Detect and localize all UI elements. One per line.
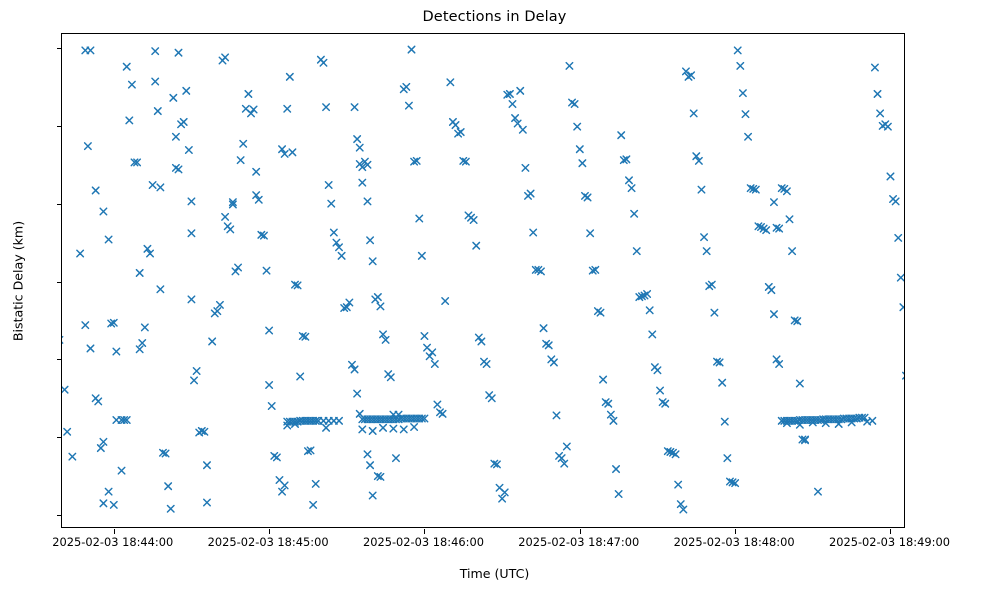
scatter-marker bbox=[274, 454, 281, 461]
scatter-marker bbox=[419, 253, 426, 260]
scatter-marker bbox=[237, 157, 244, 164]
scatter-marker bbox=[771, 199, 778, 206]
scatter-marker bbox=[711, 309, 718, 316]
scatter-marker bbox=[421, 333, 428, 340]
scatter-marker bbox=[157, 184, 164, 191]
scatter-marker bbox=[393, 455, 400, 462]
scatter-marker bbox=[136, 270, 143, 277]
y-tick-mark bbox=[57, 437, 62, 438]
scatter-marker bbox=[98, 445, 105, 452]
scatter-marker bbox=[786, 216, 793, 223]
scatter-series bbox=[62, 34, 904, 527]
scatter-marker bbox=[180, 119, 187, 126]
scatter-marker bbox=[165, 483, 172, 490]
x-tick-mark bbox=[580, 529, 581, 534]
scatter-marker bbox=[690, 110, 697, 117]
scatter-marker bbox=[173, 133, 180, 140]
scatter-marker bbox=[613, 466, 620, 473]
scatter-marker bbox=[406, 102, 413, 109]
scatter-marker bbox=[517, 88, 524, 95]
scatter-marker bbox=[139, 340, 146, 347]
scatter-marker bbox=[768, 287, 775, 293]
scatter-marker bbox=[675, 481, 682, 488]
scatter-marker bbox=[62, 337, 63, 344]
scatter-marker bbox=[186, 147, 193, 154]
scatter-marker bbox=[123, 63, 130, 69]
scatter-marker bbox=[157, 286, 164, 293]
scatter-marker bbox=[152, 48, 159, 55]
scatter-marker bbox=[452, 122, 459, 128]
scatter-marker bbox=[737, 63, 744, 70]
scatter-marker bbox=[289, 149, 296, 156]
scatter-marker bbox=[734, 47, 741, 54]
x-tick-mark bbox=[890, 529, 891, 534]
y-axis-label: Bistatic Delay (km) bbox=[11, 220, 26, 340]
x-tick-label: 2025-02-03 18:48:00 bbox=[674, 535, 795, 549]
y-tick-mark bbox=[57, 126, 62, 127]
x-tick-label: 2025-02-03 18:46:00 bbox=[363, 535, 484, 549]
scatter-marker bbox=[100, 208, 107, 215]
scatter-marker bbox=[193, 368, 200, 375]
scatter-marker bbox=[310, 502, 317, 509]
x-axis-label: Time (UTC) bbox=[0, 566, 989, 581]
scatter-marker bbox=[900, 304, 904, 311]
scatter-marker bbox=[628, 185, 635, 192]
scatter-marker bbox=[356, 144, 363, 151]
scatter-marker bbox=[701, 234, 708, 241]
scatter-marker bbox=[136, 346, 143, 353]
x-tick-mark bbox=[269, 529, 270, 534]
scatter-marker bbox=[408, 46, 415, 53]
scatter-marker bbox=[564, 443, 571, 450]
scatter-marker bbox=[105, 236, 112, 243]
scatter-marker bbox=[527, 190, 534, 197]
scatter-marker bbox=[364, 198, 371, 205]
scatter-marker bbox=[566, 63, 573, 70]
scatter-marker bbox=[320, 60, 327, 66]
x-tick-mark bbox=[424, 529, 425, 534]
scatter-marker bbox=[266, 382, 273, 389]
scatter-marker bbox=[434, 401, 441, 408]
x-tick-label: 2025-02-03 18:49:00 bbox=[829, 535, 950, 549]
scatter-marker bbox=[442, 298, 449, 305]
scatter-marker bbox=[338, 253, 345, 260]
scatter-marker bbox=[380, 425, 387, 432]
scatter-marker bbox=[323, 425, 330, 432]
scatter-marker bbox=[898, 274, 904, 281]
scatter-marker bbox=[369, 428, 376, 435]
scatter-marker bbox=[227, 226, 234, 233]
scatter-marker bbox=[312, 481, 319, 488]
scatter-marker bbox=[85, 143, 92, 150]
scatter-marker bbox=[367, 237, 374, 244]
scatter-marker bbox=[188, 230, 195, 237]
scatter-marker bbox=[874, 91, 881, 98]
page-title: Detections in Delay bbox=[0, 9, 989, 25]
scatter-marker bbox=[553, 412, 560, 419]
scatter-marker bbox=[331, 229, 338, 236]
scatter-marker bbox=[439, 411, 446, 418]
scatter-marker bbox=[903, 372, 904, 379]
scatter-marker bbox=[359, 426, 366, 433]
scatter-marker bbox=[279, 488, 286, 495]
x-tick-label: 2025-02-03 18:44:00 bbox=[52, 535, 173, 549]
scatter-marker bbox=[869, 418, 876, 425]
scatter-marker bbox=[571, 101, 578, 108]
scatter-marker bbox=[579, 160, 586, 167]
scatter-marker bbox=[253, 169, 260, 176]
scatter-marker bbox=[742, 111, 749, 118]
scatter-marker bbox=[520, 126, 527, 133]
scatter-marker bbox=[175, 49, 182, 56]
scatter-marker bbox=[217, 302, 224, 309]
scatter-marker bbox=[92, 187, 99, 194]
scatter-marker bbox=[600, 376, 607, 383]
scatter-marker bbox=[403, 84, 410, 91]
scatter-marker bbox=[797, 380, 804, 387]
scatter-marker bbox=[771, 311, 778, 318]
scatter-marker bbox=[142, 324, 149, 331]
scatter-marker bbox=[191, 377, 198, 384]
scatter-marker bbox=[633, 248, 640, 255]
scatter-marker bbox=[400, 426, 407, 433]
scatter-marker bbox=[608, 411, 615, 418]
scatter-marker bbox=[698, 186, 705, 193]
scatter-marker bbox=[336, 418, 343, 425]
scatter-marker bbox=[584, 194, 591, 201]
scatter-marker bbox=[367, 462, 374, 469]
scatter-marker bbox=[538, 268, 545, 275]
scatter-marker bbox=[87, 47, 94, 54]
scatter-marker bbox=[287, 74, 294, 81]
scatter-marker bbox=[501, 489, 508, 496]
scatter-marker bbox=[499, 495, 506, 502]
scatter-marker bbox=[895, 235, 902, 242]
scatter-marker bbox=[388, 374, 395, 381]
scatter-marker bbox=[411, 424, 418, 431]
scatter-marker bbox=[483, 361, 490, 368]
scatter-marker bbox=[369, 492, 376, 499]
scatter-marker bbox=[149, 182, 156, 189]
scatter-marker bbox=[885, 123, 892, 129]
scatter-marker bbox=[359, 179, 366, 186]
scatter-marker bbox=[457, 129, 464, 136]
y-tick-mark bbox=[57, 515, 62, 516]
scatter-marker bbox=[100, 500, 107, 507]
scatter-marker bbox=[175, 166, 182, 173]
scatter-marker bbox=[789, 248, 796, 255]
plot-area bbox=[61, 33, 905, 528]
scatter-marker bbox=[266, 327, 273, 334]
scatter-marker bbox=[113, 348, 120, 355]
scatter-marker bbox=[354, 390, 361, 397]
scatter-marker bbox=[470, 217, 477, 224]
scatter-marker bbox=[887, 173, 894, 180]
scatter-marker bbox=[95, 398, 102, 405]
scatter-marker bbox=[377, 303, 384, 310]
scatter-marker bbox=[263, 267, 270, 274]
scatter-marker bbox=[657, 387, 664, 394]
scatter-marker bbox=[610, 418, 617, 425]
scatter-marker bbox=[152, 78, 159, 85]
scatter-marker bbox=[64, 428, 71, 435]
scatter-marker bbox=[284, 105, 291, 112]
scatter-marker bbox=[77, 250, 84, 257]
scatter-marker bbox=[703, 248, 710, 255]
scatter-marker bbox=[540, 325, 547, 332]
scatter-marker bbox=[473, 242, 480, 249]
scatter-marker bbox=[597, 309, 604, 316]
scatter-marker bbox=[155, 108, 162, 115]
scatter-marker bbox=[170, 95, 176, 102]
scatter-marker bbox=[587, 230, 594, 237]
scatter-marker bbox=[577, 146, 584, 153]
x-tick-label: 2025-02-03 18:45:00 bbox=[208, 535, 329, 549]
scatter-marker bbox=[209, 338, 216, 345]
scatter-marker bbox=[709, 281, 716, 288]
scatter-marker bbox=[489, 395, 496, 402]
scatter-marker bbox=[188, 198, 195, 205]
scatter-marker bbox=[872, 64, 879, 71]
scatter-marker bbox=[100, 439, 107, 446]
scatter-marker bbox=[719, 379, 726, 386]
scatter-marker bbox=[626, 177, 633, 184]
scatter-marker bbox=[375, 294, 382, 301]
scatter-marker bbox=[204, 499, 211, 506]
x-tick-mark bbox=[114, 529, 115, 534]
scatter-marker bbox=[126, 117, 133, 124]
scatter-marker bbox=[105, 488, 112, 495]
scatter-marker bbox=[323, 104, 330, 111]
scatter-marker bbox=[545, 342, 552, 349]
scatter-marker bbox=[222, 54, 229, 61]
scatter-marker bbox=[522, 165, 529, 172]
scatter-marker bbox=[82, 322, 89, 329]
scatter-marker bbox=[654, 367, 661, 374]
scatter-marker bbox=[745, 133, 752, 140]
scatter-marker bbox=[432, 361, 439, 368]
scatter-marker bbox=[354, 136, 361, 143]
scatter-marker bbox=[111, 502, 118, 509]
scatter-marker bbox=[649, 331, 656, 338]
scatter-marker bbox=[297, 373, 304, 380]
scatter-marker bbox=[351, 104, 358, 111]
scatter-marker bbox=[631, 211, 638, 218]
scatter-marker bbox=[328, 200, 335, 207]
scatter-marker bbox=[183, 88, 190, 95]
scatter-marker bbox=[530, 229, 537, 236]
scatter-marker bbox=[369, 258, 376, 265]
scatter-marker bbox=[364, 451, 371, 458]
x-tick-mark bbox=[735, 529, 736, 534]
scatter-marker bbox=[62, 386, 68, 393]
scatter-marker bbox=[268, 403, 275, 410]
scatter-marker bbox=[87, 345, 94, 352]
scatter-marker bbox=[204, 462, 211, 469]
scatter-marker bbox=[390, 425, 397, 432]
y-tick-mark bbox=[57, 359, 62, 360]
scatter-marker bbox=[877, 110, 884, 117]
scatter-points bbox=[62, 34, 904, 527]
matplotlib-figure: Detections in Delay Bistatic Delay (km) … bbox=[0, 0, 989, 590]
y-tick-mark bbox=[57, 282, 62, 283]
scatter-marker bbox=[724, 455, 731, 462]
scatter-marker bbox=[646, 307, 653, 314]
scatter-marker bbox=[129, 81, 136, 88]
scatter-marker bbox=[551, 359, 558, 366]
y-tick-mark bbox=[57, 48, 62, 49]
scatter-marker bbox=[618, 132, 625, 139]
scatter-marker bbox=[69, 453, 76, 460]
scatter-marker bbox=[118, 467, 125, 474]
scatter-marker bbox=[447, 79, 454, 86]
scatter-marker bbox=[605, 400, 612, 407]
scatter-marker bbox=[416, 215, 423, 222]
scatter-marker bbox=[245, 91, 252, 98]
scatter-marker bbox=[688, 72, 695, 79]
x-tick-label: 2025-02-03 18:47:00 bbox=[518, 535, 639, 549]
scatter-marker bbox=[722, 418, 729, 425]
scatter-marker bbox=[574, 123, 581, 129]
scatter-marker bbox=[740, 90, 747, 97]
scatter-marker bbox=[615, 491, 622, 498]
scatter-marker bbox=[325, 182, 332, 189]
y-tick-mark bbox=[57, 204, 62, 205]
scatter-marker bbox=[892, 198, 899, 205]
scatter-marker bbox=[167, 506, 174, 513]
scatter-marker bbox=[662, 400, 669, 407]
scatter-marker bbox=[240, 140, 247, 147]
scatter-marker bbox=[222, 214, 229, 221]
scatter-marker bbox=[509, 101, 516, 108]
scatter-marker bbox=[188, 296, 195, 303]
scatter-marker bbox=[281, 482, 288, 489]
scatter-marker bbox=[214, 308, 221, 315]
scatter-marker bbox=[815, 488, 822, 495]
